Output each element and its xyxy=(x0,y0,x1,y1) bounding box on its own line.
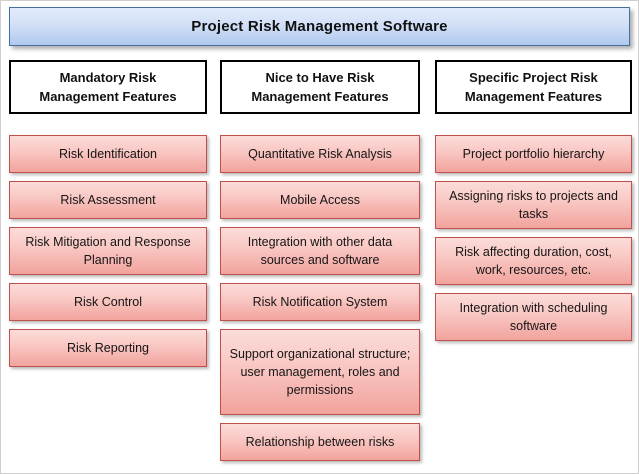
feature-box[interactable]: Integration with other data sources and … xyxy=(220,227,420,275)
column-header-line2: Management Features xyxy=(39,89,176,104)
feature-box[interactable]: Risk Mitigation and Response Planning xyxy=(9,227,207,275)
diagram-title-text: Project Risk Management Software xyxy=(191,18,447,35)
feature-label: Risk Reporting xyxy=(61,339,155,357)
diagram-title-banner: Project Risk Management Software xyxy=(9,7,630,46)
feature-box[interactable]: Risk Control xyxy=(9,283,207,321)
feature-box[interactable]: Risk Reporting xyxy=(9,329,207,367)
feature-box[interactable]: Risk Assessment xyxy=(9,181,207,219)
feature-label: Risk Control xyxy=(68,293,148,311)
column-mandatory-risk-management-features: Mandatory Risk Management Features Risk … xyxy=(9,60,207,375)
column-header-label-specific-project: Specific Project Risk Management Feature… xyxy=(459,68,608,106)
feature-box[interactable]: Relationship between risks xyxy=(220,423,420,461)
feature-label: Quantitative Risk Analysis xyxy=(242,145,398,163)
feature-label: Mobile Access xyxy=(274,191,366,209)
feature-label: Integration with scheduling software xyxy=(436,299,631,335)
column-header-mandatory: Mandatory Risk Management Features xyxy=(9,60,207,114)
column-header-label-nice-to-have: Nice to Have Risk Management Features xyxy=(245,68,394,106)
column-header-nice-to-have: Nice to Have Risk Management Features xyxy=(220,60,420,114)
feature-label: Risk Mitigation and Response Planning xyxy=(10,233,206,269)
column-header-line1: Nice to Have Risk xyxy=(265,70,374,85)
column-header-line1: Specific Project Risk xyxy=(469,70,598,85)
feature-label: Integration with other data sources and … xyxy=(221,233,419,269)
diagram-canvas: Project Risk Management Software Mandato… xyxy=(0,0,639,474)
feature-label: Relationship between risks xyxy=(240,433,401,451)
feature-box[interactable]: Quantitative Risk Analysis xyxy=(220,135,420,173)
column-nice-to-have-risk-management-features: Nice to Have Risk Management Features Qu… xyxy=(220,60,420,469)
feature-box[interactable]: Mobile Access xyxy=(220,181,420,219)
feature-label: Risk affecting duration, cost, work, res… xyxy=(436,243,631,279)
column-header-specific-project: Specific Project Risk Management Feature… xyxy=(435,60,632,114)
feature-box[interactable]: Risk affecting duration, cost, work, res… xyxy=(435,237,632,285)
feature-label: Support organizational structure; user m… xyxy=(221,345,419,399)
feature-box[interactable]: Risk Notification System xyxy=(220,283,420,321)
column-specific-project-risk-management-features: Specific Project Risk Management Feature… xyxy=(435,60,632,349)
feature-box[interactable]: Project portfolio hierarchy xyxy=(435,135,632,173)
feature-label: Risk Assessment xyxy=(54,191,161,209)
feature-box[interactable]: Risk Identification xyxy=(9,135,207,173)
feature-box[interactable]: Assigning risks to projects and tasks xyxy=(435,181,632,229)
feature-label: Assigning risks to projects and tasks xyxy=(436,187,631,223)
feature-label: Risk Notification System xyxy=(247,293,394,311)
feature-label: Risk Identification xyxy=(53,145,163,163)
column-header-line1: Mandatory Risk xyxy=(60,70,157,85)
feature-box[interactable]: Integration with scheduling software xyxy=(435,293,632,341)
column-header-line2: Management Features xyxy=(465,89,602,104)
column-header-line2: Management Features xyxy=(251,89,388,104)
feature-label: Project portfolio hierarchy xyxy=(457,145,611,163)
column-header-label-mandatory: Mandatory Risk Management Features xyxy=(33,68,182,106)
feature-box[interactable]: Support organizational structure; user m… xyxy=(220,329,420,415)
